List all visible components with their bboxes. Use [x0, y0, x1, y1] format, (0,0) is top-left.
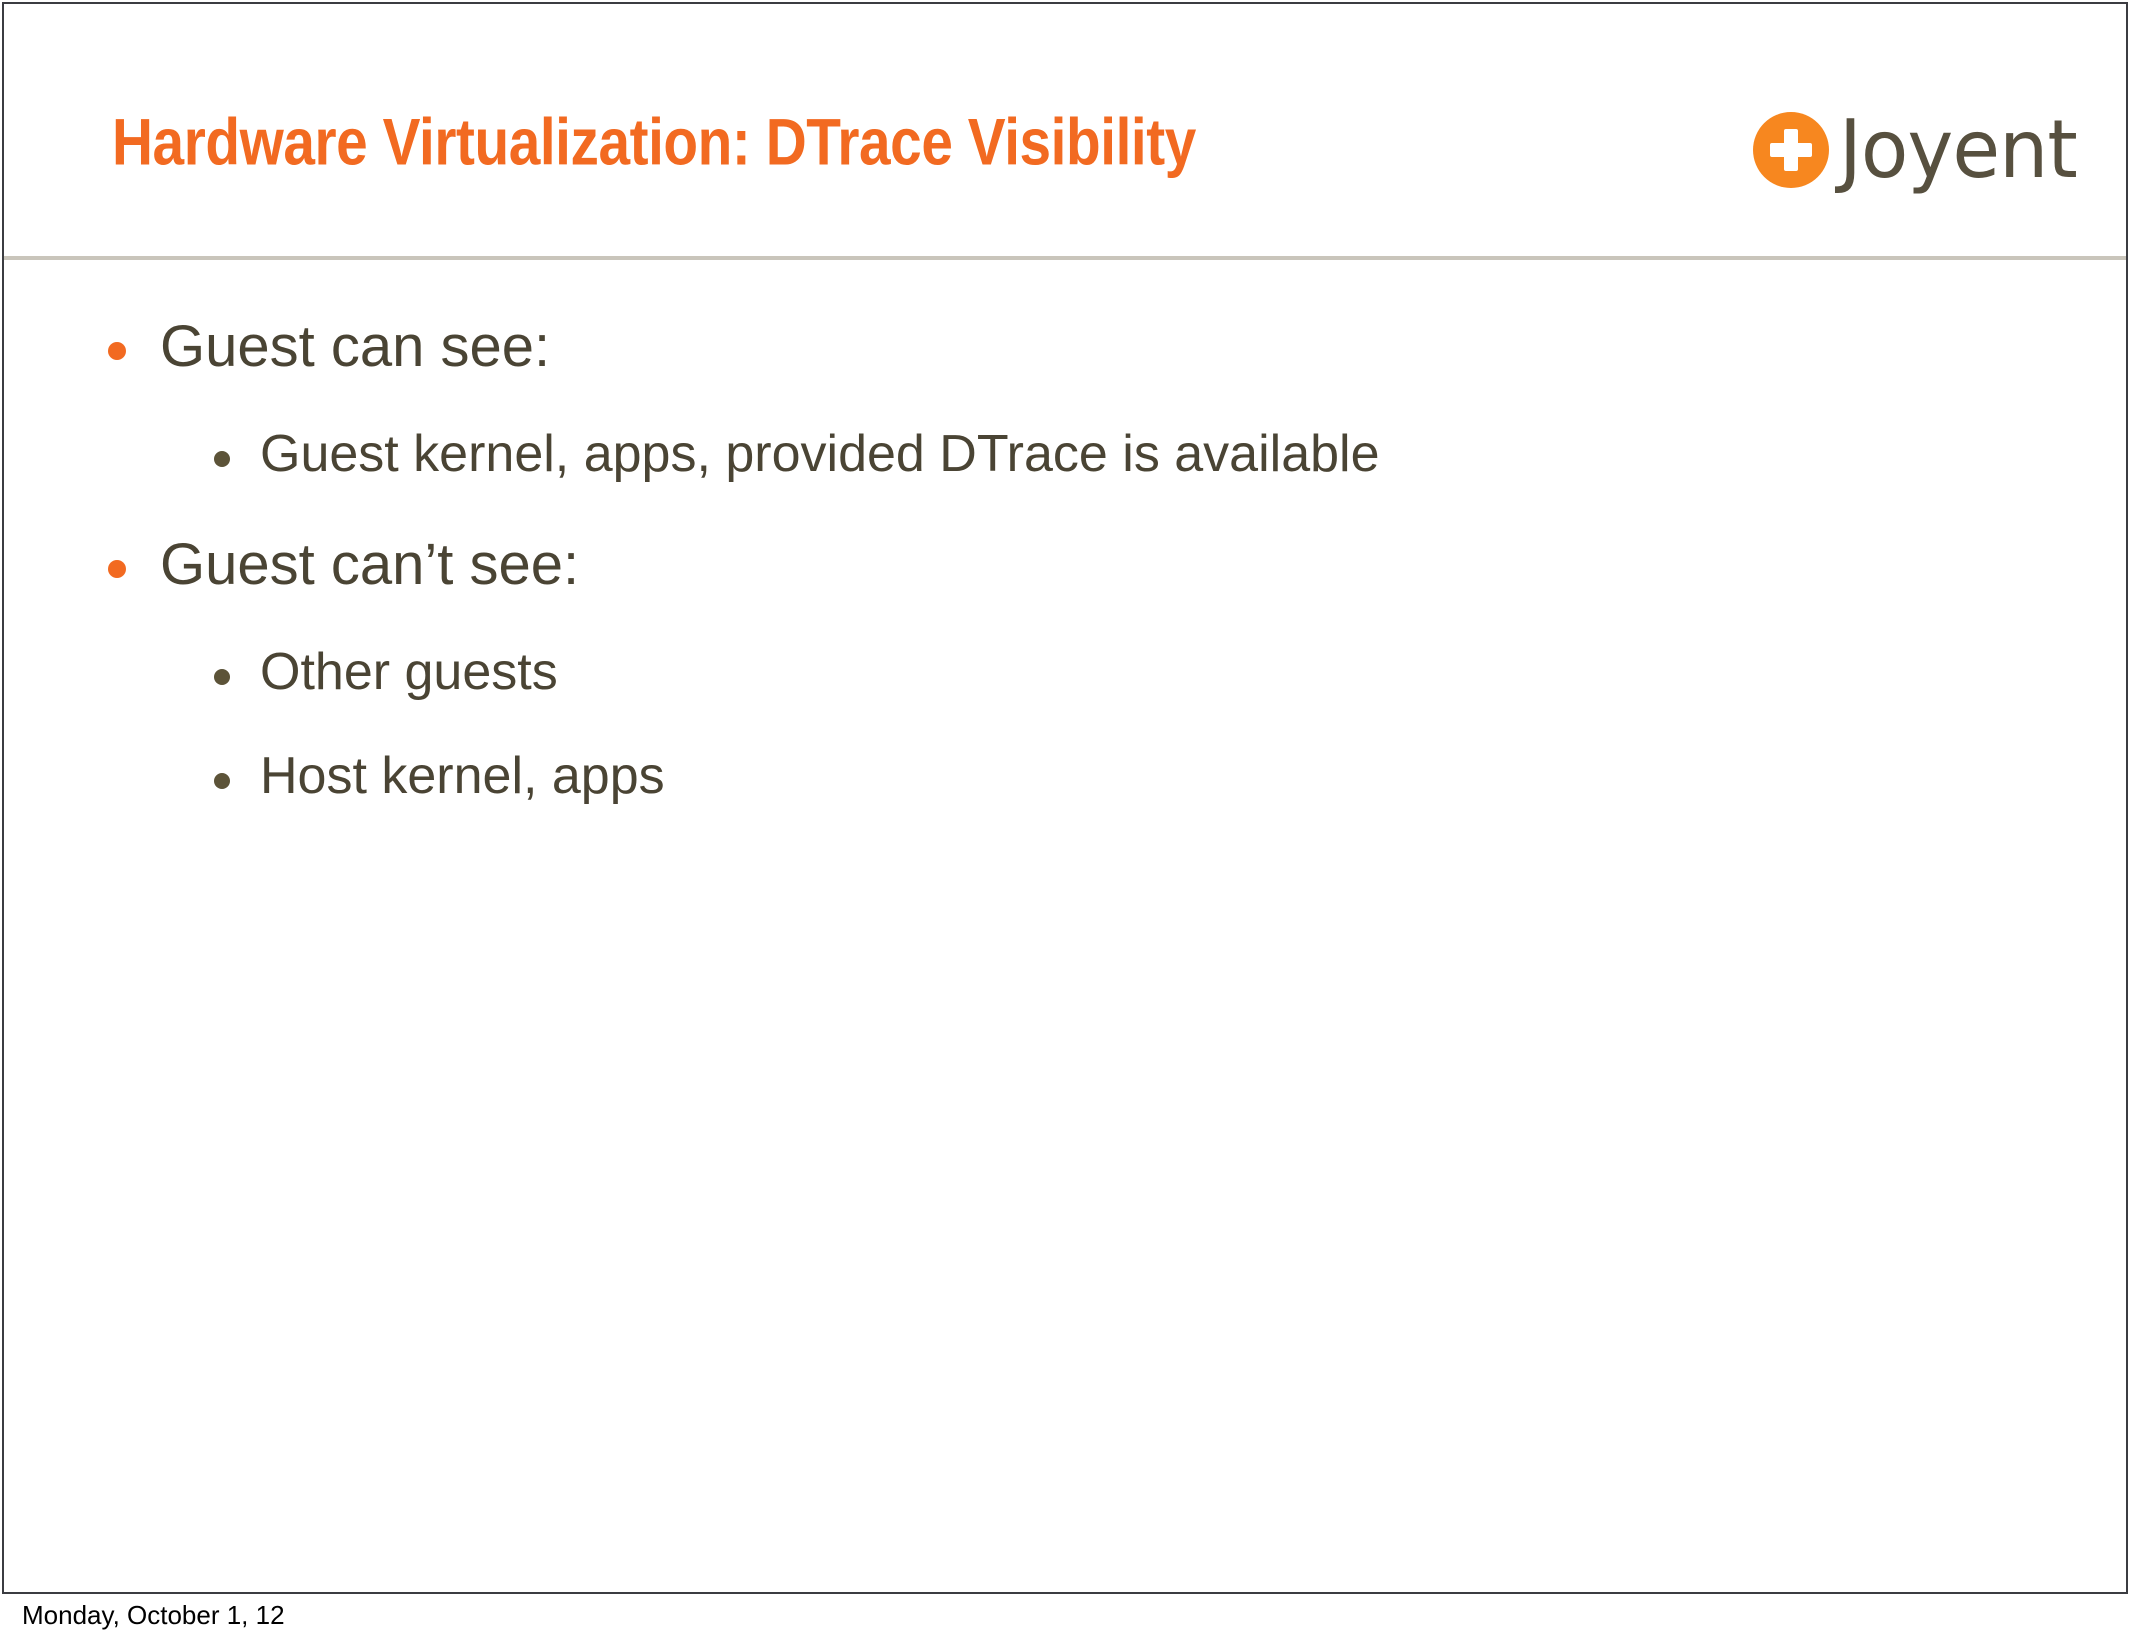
bullet-icon [108, 342, 126, 360]
list-item: Guest can see: [4, 314, 2126, 381]
page-title: Hardware Virtualization: DTrace Visibili… [112, 107, 1196, 176]
bullet-list: Guest can see: Guest kernel, apps, provi… [4, 266, 2126, 807]
list-item-label: Other guests [260, 643, 558, 703]
joyent-logo: Joyent [1753, 102, 2084, 198]
list-item: Host kernel, apps [4, 747, 2126, 807]
list-item: Other guests [4, 643, 2126, 703]
bullet-icon [108, 560, 126, 578]
list-item: Guest can’t see: [4, 532, 2126, 599]
list-item-label: Guest kernel, apps, provided DTrace is a… [260, 425, 1380, 485]
plus-in-circle-icon [1753, 112, 1829, 188]
list-item-label: Guest can see: [160, 314, 550, 381]
bullet-icon [214, 773, 230, 789]
slide-frame: Hardware Virtualization: DTrace Visibili… [2, 2, 2128, 1594]
bullet-icon [214, 669, 230, 685]
logo-wordmark: Joyent [1839, 110, 2077, 190]
list-item-label: Host kernel, apps [260, 747, 665, 807]
bullet-icon [214, 451, 230, 467]
list-item-label: Guest can’t see: [160, 532, 579, 599]
title-divider [4, 256, 2126, 260]
slide-title-band: Hardware Virtualization: DTrace Visibili… [4, 4, 2126, 256]
footer-date: Monday, October 1, 12 [22, 1600, 285, 1631]
list-item: Guest kernel, apps, provided DTrace is a… [4, 425, 2126, 485]
